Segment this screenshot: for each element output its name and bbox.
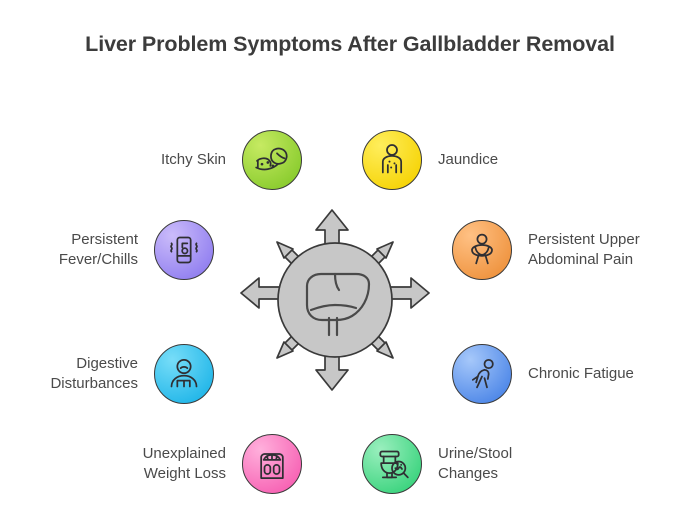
- node-circle-urine-stool-changes[interactable]: [362, 434, 422, 494]
- node-circle-digestive-disturbances[interactable]: [154, 344, 214, 404]
- node-label-weight-loss: Unexplained Weight Loss: [16, 444, 226, 484]
- itchy-skin-icon: [252, 140, 292, 180]
- walking-person-icon: [462, 354, 502, 394]
- abdominal-pain-icon: [462, 230, 502, 270]
- node-label-fever-chills: Persistent Fever/Chills: [0, 230, 138, 270]
- page-title: Liver Problem Symptoms After Gallbladder…: [0, 32, 700, 58]
- node-circle-abdominal-pain[interactable]: [452, 220, 512, 280]
- node-circle-fever-chills[interactable]: [154, 220, 214, 280]
- node-label-digestive-disturbances: Digestive Disturbances: [0, 354, 138, 394]
- node-itchy-skin[interactable]: Itchy Skin: [242, 130, 302, 190]
- node-label-itchy-skin: Itchy Skin: [16, 150, 226, 170]
- node-weight-loss[interactable]: Unexplained Weight Loss: [242, 434, 302, 494]
- digestive-person-icon: [164, 354, 204, 394]
- toilet-magnifier-icon: [372, 444, 412, 484]
- node-circle-itchy-skin[interactable]: [242, 130, 302, 190]
- node-circle-chronic-fatigue[interactable]: [452, 344, 512, 404]
- node-chronic-fatigue[interactable]: Chronic Fatigue: [452, 344, 512, 404]
- node-label-abdominal-pain: Persistent Upper Abdominal Pain: [528, 230, 700, 270]
- node-abdominal-pain[interactable]: Persistent Upper Abdominal Pain: [452, 220, 512, 280]
- node-fever-chills[interactable]: Persistent Fever/Chills: [154, 220, 214, 280]
- central-hub-liver: [225, 190, 445, 410]
- node-digestive-disturbances[interactable]: Digestive Disturbances: [154, 344, 214, 404]
- node-label-jaundice: Jaundice: [438, 150, 648, 170]
- node-urine-stool-changes[interactable]: Urine/Stool Changes: [362, 434, 422, 494]
- hub-circle: [278, 243, 392, 357]
- node-circle-weight-loss[interactable]: [242, 434, 302, 494]
- node-label-urine-stool-changes: Urine/Stool Changes: [438, 444, 648, 484]
- weight-scale-icon: [252, 444, 292, 484]
- thermometer-icon: [164, 230, 204, 270]
- jaundice-person-icon: [372, 140, 412, 180]
- node-circle-jaundice[interactable]: [362, 130, 422, 190]
- node-jaundice[interactable]: Jaundice: [362, 130, 422, 190]
- infographic-canvas: Liver Problem Symptoms After Gallbladder…: [0, 0, 700, 525]
- node-label-chronic-fatigue: Chronic Fatigue: [528, 364, 700, 384]
